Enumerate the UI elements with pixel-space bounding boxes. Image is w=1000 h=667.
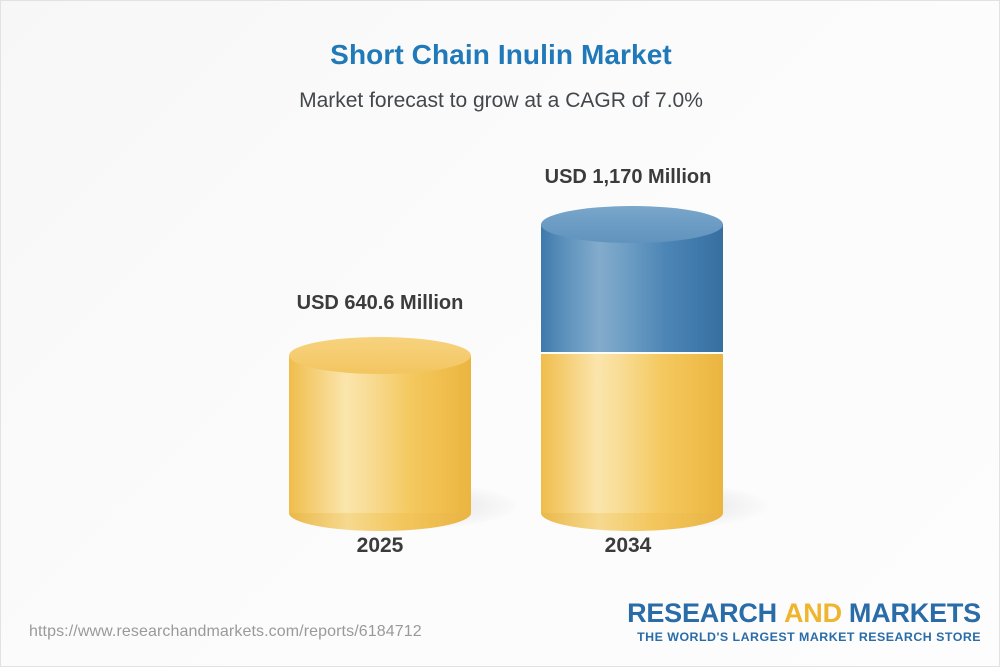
- bar-2025-base-top: [289, 337, 471, 374]
- brand-logo[interactable]: RESEARCHANDMARKETS THE WORLD'S LARGEST M…: [627, 599, 981, 644]
- category-label-2034: 2034: [478, 534, 778, 558]
- bar-2034-growth-body: [541, 224, 723, 352]
- infographic-canvas: Short Chain Inulin Market Market forecas…: [0, 0, 1000, 667]
- bar-2025-base-body: [289, 355, 471, 513]
- bar-2034-growth-top: [541, 206, 723, 243]
- value-label-2025: USD 640.6 Million: [230, 292, 530, 315]
- brand-logo-tagline: THE WORLD'S LARGEST MARKET RESEARCH STOR…: [627, 630, 981, 644]
- report-url[interactable]: https://www.researchandmarkets.com/repor…: [29, 623, 422, 641]
- bar-2034-base-body: [541, 354, 723, 513]
- brand-logo-markets: MARKETS: [849, 598, 981, 628]
- brand-logo-and: AND: [784, 598, 842, 628]
- bar-2025: [289, 337, 471, 515]
- bar-2034: [541, 206, 723, 515]
- brand-logo-wordmark: RESEARCHANDMARKETS: [627, 599, 981, 627]
- chart-area: USD 640.6 Million 2025 USD 1,170 Million…: [1, 1, 1000, 601]
- value-label-2034: USD 1,170 Million: [478, 166, 778, 189]
- brand-logo-research: RESEARCH: [627, 598, 777, 628]
